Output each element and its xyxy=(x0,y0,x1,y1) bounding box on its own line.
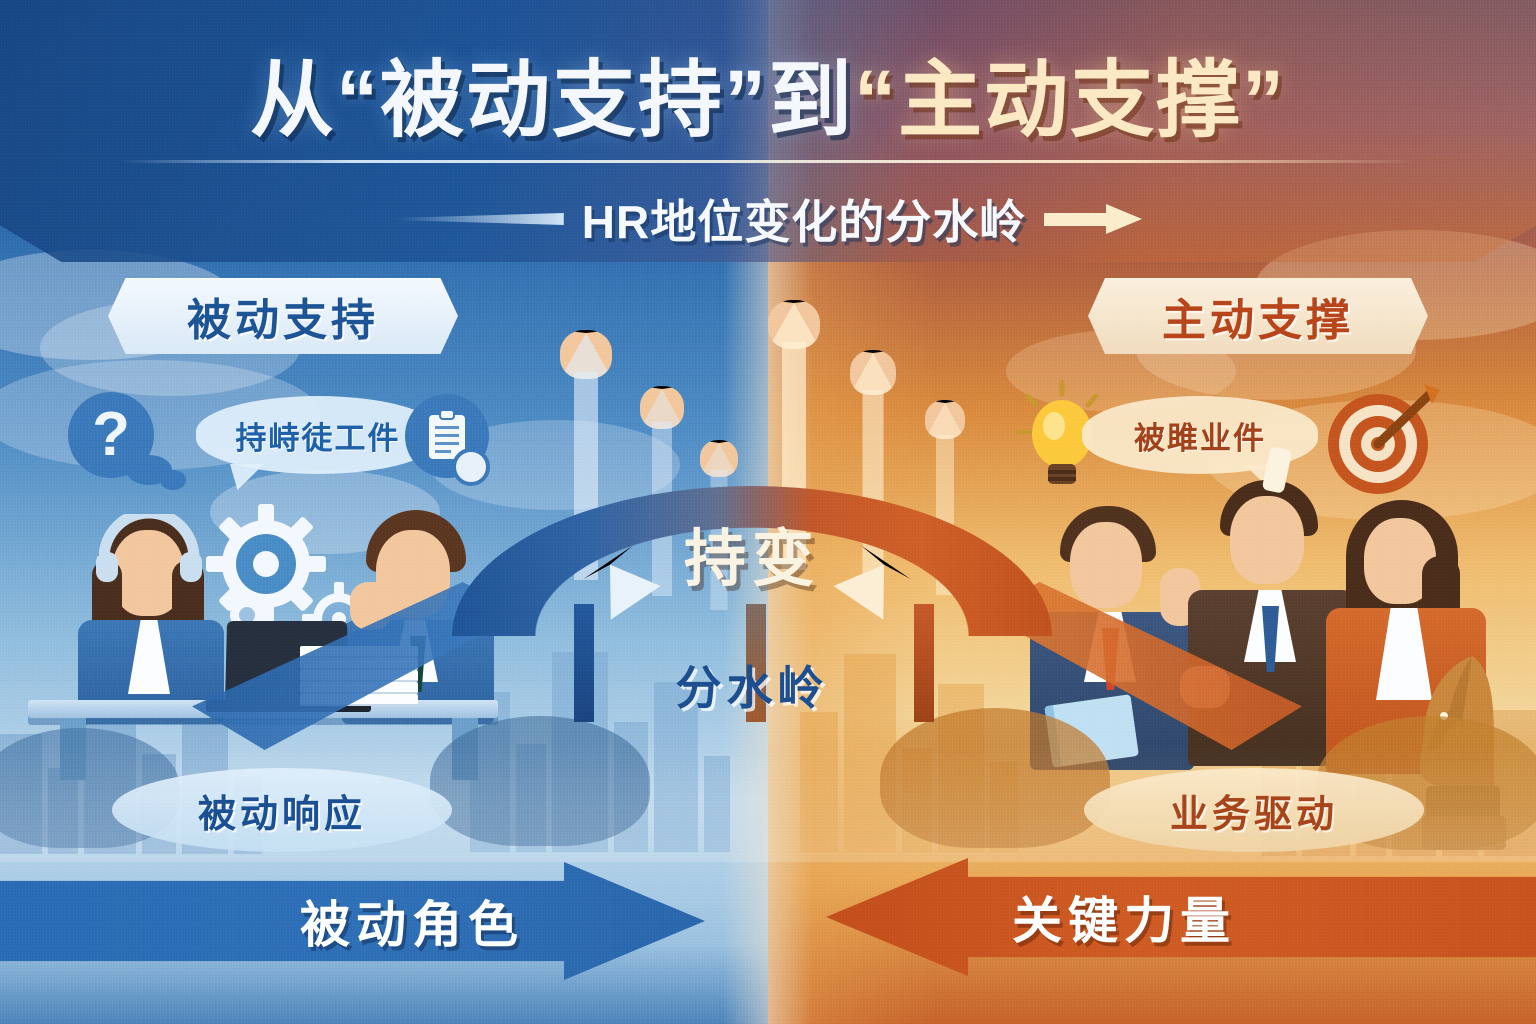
bridge-watershed-label: 分水岭 xyxy=(452,652,1052,718)
left-section-banner: 被动支持 xyxy=(108,278,458,354)
page-title-part-1: 从 xyxy=(250,53,336,147)
left-speech-bubble: 持峙徒工件 xyxy=(196,396,440,474)
transition-bridge: 持变 分水岭 xyxy=(452,486,1052,786)
page-title: 从“被动支持”到“主动支撑” xyxy=(0,58,1536,142)
title-divider-rule xyxy=(120,160,1416,163)
infographic-poster: 从“被动支持”到“主动支撑” HR地位变化的分水岭 被动支持 主动支撑 ? 持峙… xyxy=(0,0,1536,1024)
clipboard-clock-badge-icon xyxy=(452,448,490,486)
right-section-banner: 主动支撑 xyxy=(1088,278,1428,354)
headset-icon xyxy=(94,514,204,584)
subtitle-left-dash-icon xyxy=(394,213,564,225)
bridge-top-label: 持变 xyxy=(452,508,1052,598)
question-bubble-dot xyxy=(160,470,186,490)
person-left-woman-headset xyxy=(62,512,242,712)
page-title-part-3: 到 xyxy=(768,53,854,147)
subtitle-row: HR地位变化的分水岭 xyxy=(0,186,1536,252)
left-status-label: 被动响应 xyxy=(112,768,452,852)
page-title-part-4: “主动支撑” xyxy=(854,53,1286,147)
page-subtitle: HR地位变化的分水岭 xyxy=(582,186,1026,252)
subtitle-right-arrow-icon xyxy=(1044,204,1142,234)
rp1-head xyxy=(1070,522,1142,608)
rp2-head xyxy=(1230,496,1304,584)
page-title-part-2: “被动支持” xyxy=(336,53,768,147)
right-status-label: 业务驱动 xyxy=(1084,768,1424,852)
